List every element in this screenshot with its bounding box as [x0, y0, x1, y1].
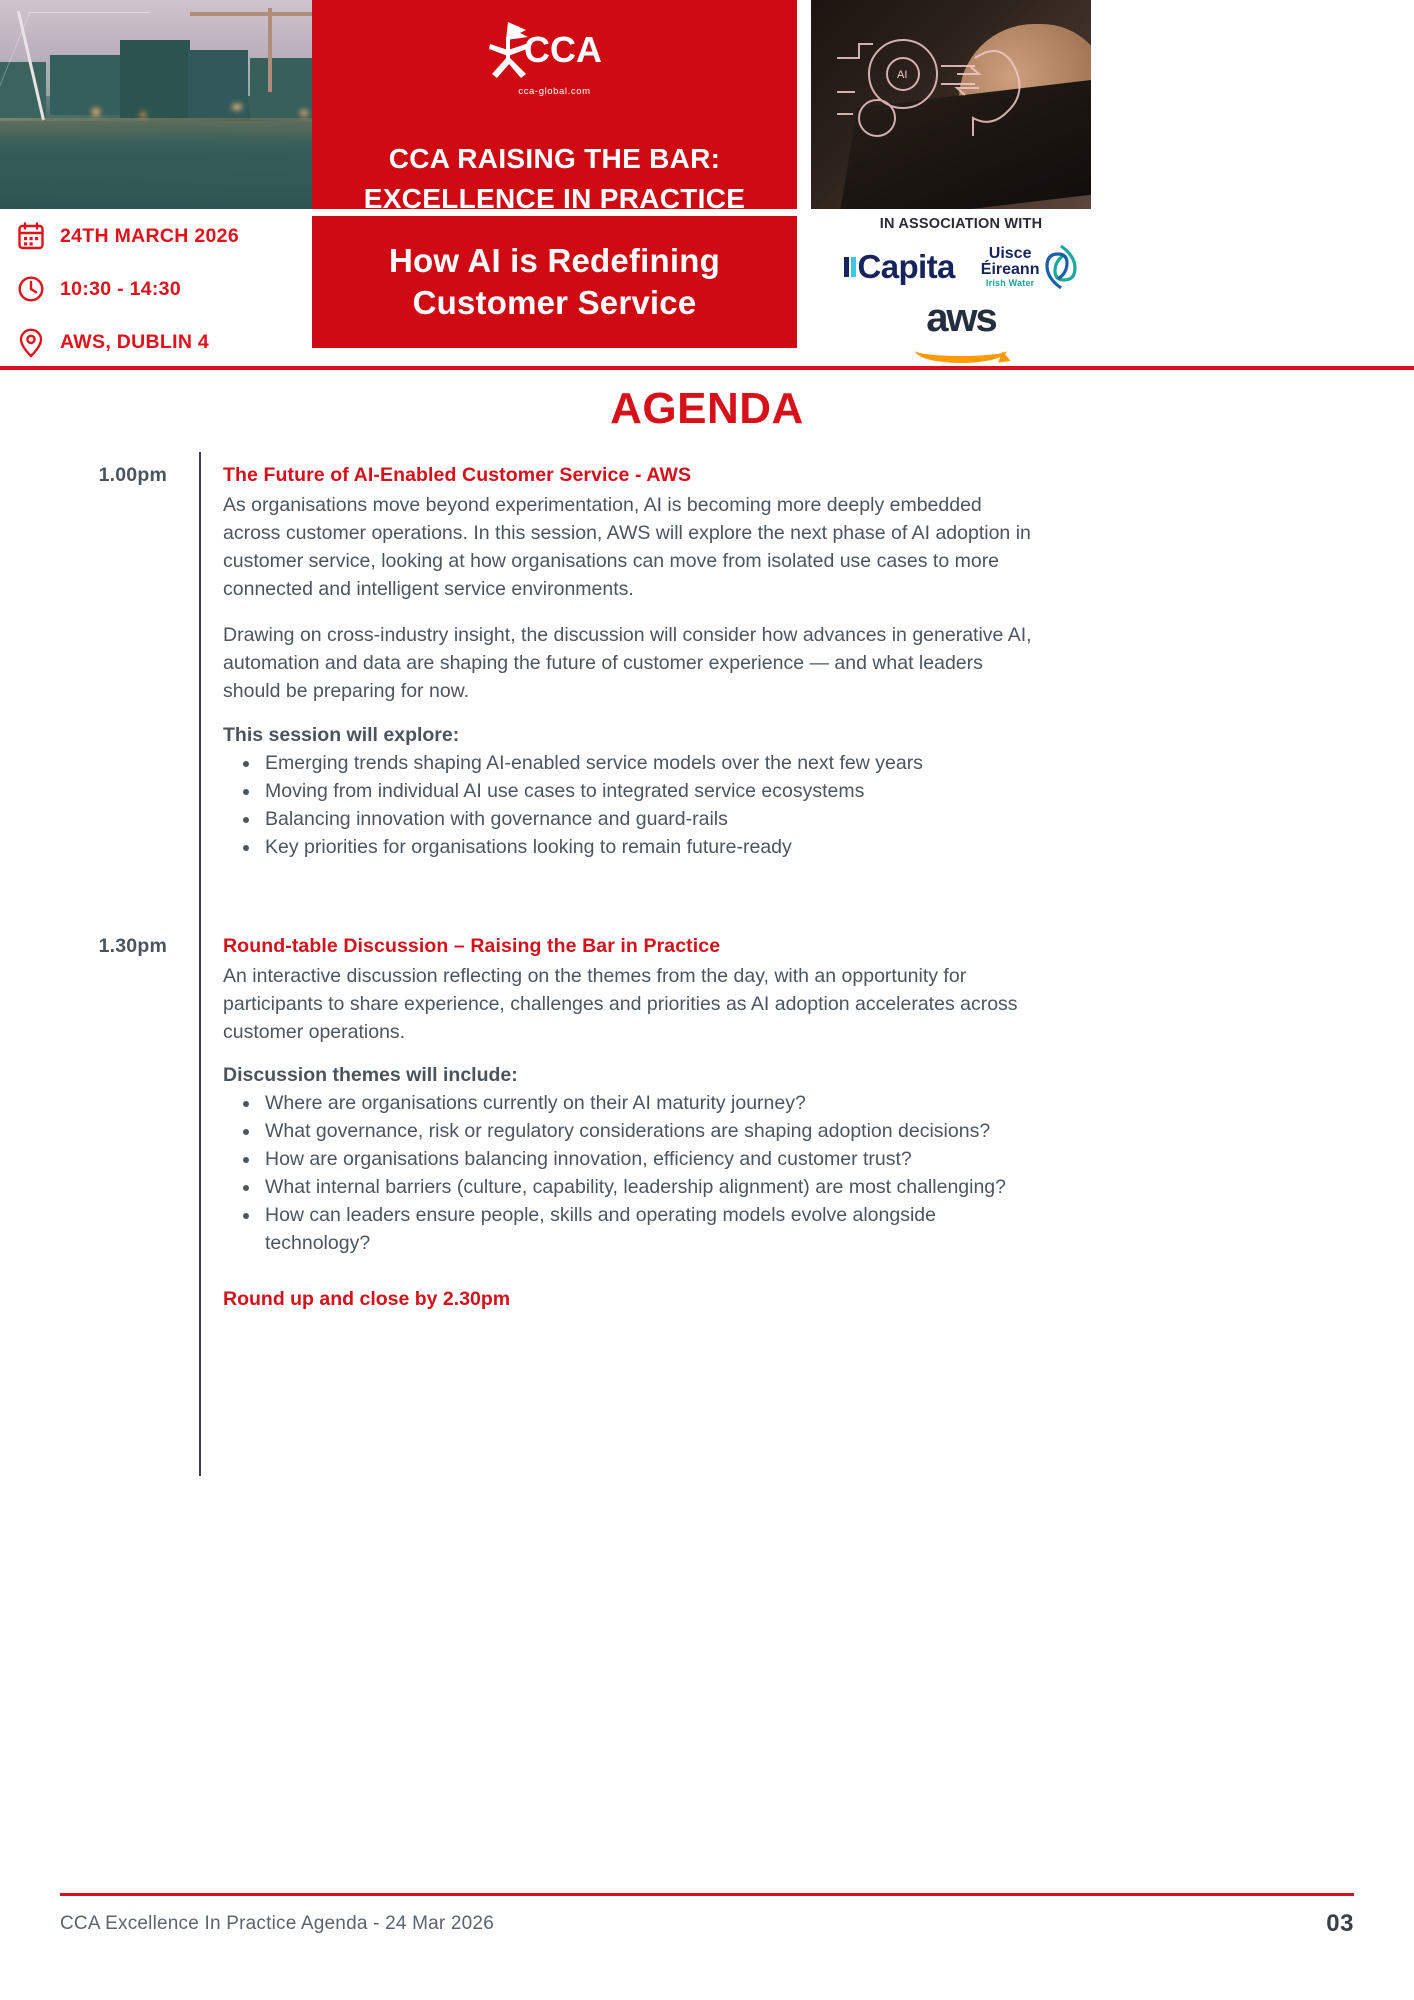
event-location: AWS, DUBLIN 4 — [60, 331, 209, 354]
capita-bars-icon — [844, 257, 856, 277]
event-title-line2: EXCELLENCE IN PRACTICE — [312, 179, 797, 219]
agenda-session: 1.00pm The Future of AI-Enabled Customer… — [0, 452, 1414, 861]
list-item: Balancing innovation with governance and… — [261, 805, 1034, 833]
event-subtitle-line1: How AI is Redefining — [389, 240, 720, 282]
cca-logo: CCA cca-global.com — [480, 0, 630, 123]
page-number: 03 — [1326, 1910, 1354, 1938]
association-block: IN ASSOCIATION WITH Capita Uisce Éireann… — [811, 216, 1111, 366]
aws-smile-icon — [915, 338, 1007, 363]
session-body: The Future of AI-Enabled Customer Servic… — [199, 452, 1414, 861]
svg-text:AI: AI — [897, 69, 907, 81]
list-item: How can leaders ensure people, skills an… — [261, 1201, 1034, 1257]
event-details: 24TH MARCH 2026 10:30 - 14:30 — [18, 222, 239, 381]
event-location-row: AWS, DUBLIN 4 — [18, 328, 239, 356]
session-spacer — [0, 861, 1414, 923]
footer-divider — [60, 1893, 1354, 1896]
svg-text:CCA: CCA — [524, 29, 602, 70]
list-item: Moving from individual AI use cases to i… — [261, 777, 1034, 805]
session-paragraph: As organisations move beyond experimenta… — [223, 491, 1034, 603]
session-heading: Round-table Discussion – Raising the Bar… — [223, 935, 1034, 958]
aws-wordmark: aws — [909, 298, 1013, 338]
ai-technology-photo: AI — [811, 0, 1091, 209]
list-item: Key priorities for organisations looking… — [261, 833, 1034, 861]
session-time: 1.30pm — [0, 923, 199, 1311]
event-date-row: 24TH MARCH 2026 — [18, 222, 239, 250]
association-label: IN ASSOCIATION WITH — [811, 216, 1111, 232]
session-paragraph: An interactive discussion reflecting on … — [223, 962, 1034, 1046]
aws-logo: aws — [909, 298, 1013, 356]
header-title-panel: CCA cca-global.com CCA RAISING THE BAR: … — [312, 0, 797, 209]
agenda-session: 1.30pm Round-table Discussion – Raising … — [0, 923, 1414, 1311]
footer-text: CCA Excellence In Practice Agenda - 24 M… — [60, 1913, 494, 1935]
event-time-row: 10:30 - 14:30 — [18, 275, 239, 303]
session-paragraph: Drawing on cross-industry insight, the d… — [223, 621, 1034, 705]
event-time: 10:30 - 14:30 — [60, 278, 181, 301]
session-heading: The Future of AI-Enabled Customer Servic… — [223, 464, 1034, 487]
calendar-icon — [18, 222, 44, 250]
list-item: What internal barriers (culture, capabil… — [261, 1173, 1034, 1201]
session-bullet-list: Emerging trends shaping AI-enabled servi… — [223, 749, 1034, 861]
event-subtitle-line2: Customer Service — [389, 282, 720, 324]
event-title: CCA RAISING THE BAR: EXCELLENCE IN PRACT… — [312, 139, 797, 219]
cca-figure-icon: CCA — [480, 18, 630, 84]
session-subheading: This session will explore: — [223, 724, 1034, 747]
session-body: Round-table Discussion – Raising the Bar… — [199, 923, 1414, 1311]
event-subtitle-panel: How AI is Redefining Customer Service — [312, 216, 797, 348]
event-date: 24TH MARCH 2026 — [60, 225, 239, 248]
page-footer: CCA Excellence In Practice Agenda - 24 M… — [60, 1910, 1354, 1938]
header-divider — [0, 366, 1414, 370]
capita-wordmark: Capita — [858, 248, 955, 286]
clock-icon — [18, 275, 44, 303]
session-bullet-list: Where are organisations currently on the… — [223, 1089, 1034, 1257]
list-item: Where are organisations currently on the… — [261, 1089, 1034, 1117]
agenda-page: CCA cca-global.com CCA RAISING THE BAR: … — [0, 0, 1414, 2000]
list-item: Emerging trends shaping AI-enabled servi… — [261, 749, 1034, 777]
page-title: AGENDA — [0, 384, 1414, 434]
session-subheading: Discussion themes will include: — [223, 1064, 1034, 1087]
uisce-line2: Éireann — [981, 262, 1040, 278]
cca-logo-url: cca-global.com — [480, 86, 630, 97]
list-item: What governance, risk or regulatory cons… — [261, 1117, 1034, 1145]
capita-logo: Capita — [844, 248, 955, 286]
agenda-sessions: 1.00pm The Future of AI-Enabled Customer… — [0, 452, 1414, 1311]
session-closing-note: Round up and close by 2.30pm — [223, 1288, 1034, 1311]
uisce-water-icon — [1044, 242, 1078, 292]
event-title-line1: CCA RAISING THE BAR: — [312, 139, 797, 179]
uisce-line1: Uisce — [981, 246, 1040, 262]
uisce-line3: Irish Water — [981, 279, 1040, 288]
session-time: 1.00pm — [0, 452, 199, 861]
uisce-eireann-logo: Uisce Éireann Irish Water — [981, 242, 1079, 292]
list-item: How are organisations balancing innovati… — [261, 1145, 1034, 1173]
location-pin-icon — [18, 328, 44, 356]
